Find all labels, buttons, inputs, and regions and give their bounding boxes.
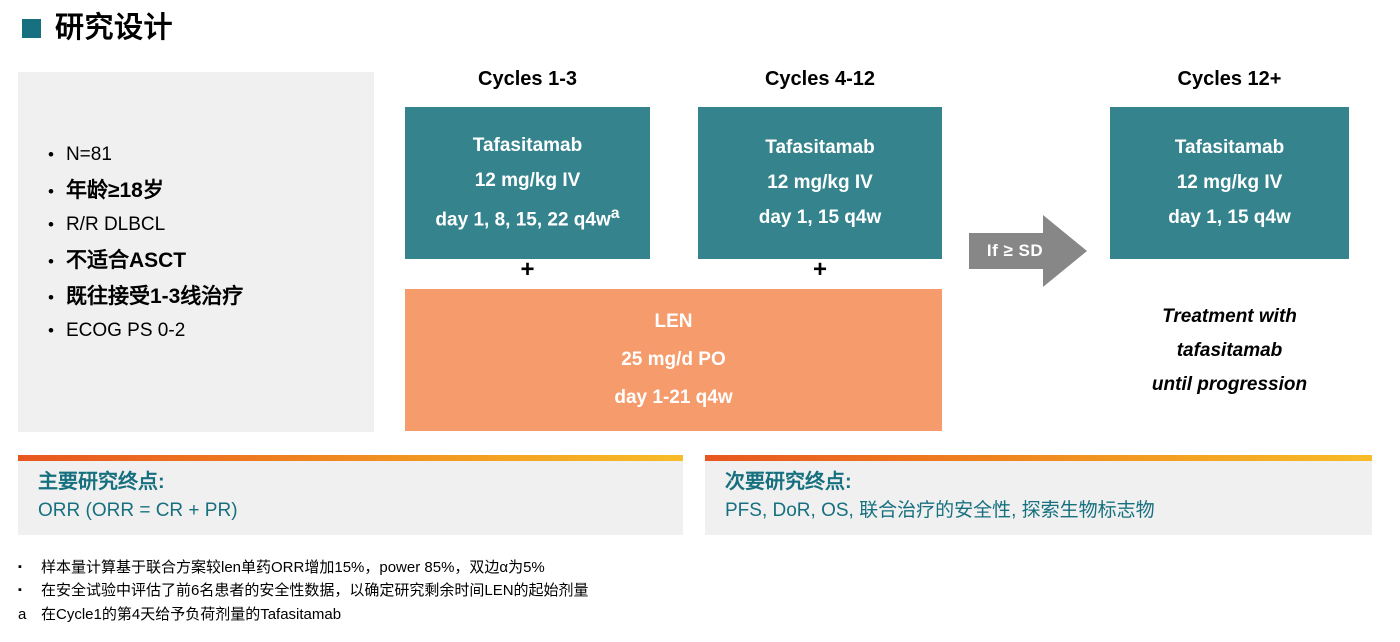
criteria-label: 不适合ASCT: [66, 248, 186, 273]
drug-schedule: day 1, 8, 15, 22 q4wa: [435, 205, 619, 231]
criteria-item-4: • 既往接受1-3线治疗: [48, 284, 374, 309]
bullet-dot-icon: •: [48, 289, 54, 306]
bullet-dot-icon: •: [48, 322, 54, 339]
secondary-endpoint-title: 次要研究终点:: [725, 469, 1372, 496]
bullet-dot-icon: •: [48, 253, 54, 270]
footnote-row-1: ▪ 在安全试验中评估了前6名患者的安全性数据，以确定研究剩余时间LEN的起始剂量: [18, 579, 1318, 602]
cycle-heading-3: Cycles 12+: [1110, 68, 1349, 91]
eligibility-criteria-panel: • N=81 • 年龄≥18岁 • R/R DLBCL • 不适合ASCT • …: [18, 72, 374, 432]
drug-name: Tafasitamab: [765, 137, 874, 159]
criteria-item-5: • ECOG PS 0-2: [48, 320, 374, 343]
criteria-item-0: • N=81: [48, 144, 374, 167]
criteria-label: 既往接受1-3线治疗: [66, 284, 243, 309]
criteria-item-2: • R/R DLBCL: [48, 214, 374, 237]
title-bullet-square: [22, 19, 41, 38]
criteria-label: N=81: [66, 144, 112, 167]
continuation-note: Treatment with tafasitamab until progres…: [1110, 300, 1349, 401]
drug-schedule: day 1, 15 q4w: [1168, 207, 1291, 229]
drug-dose: 12 mg/kg IV: [767, 172, 873, 194]
bullet-dot-icon: •: [48, 216, 54, 233]
criteria-item-3: • 不适合ASCT: [48, 248, 374, 273]
continuation-arrow: If ≥ SD: [969, 215, 1087, 287]
footnote-text: 样本量计算基于联合方案较len单药ORR增加15%，power 85%，双边α为…: [41, 556, 545, 579]
secondary-endpoint-body: PFS, DoR, OS, 联合治疗的安全性, 探索生物标志物: [725, 498, 1372, 524]
primary-endpoint-panel: 主要研究终点: ORR (ORR = CR + PR): [18, 455, 683, 535]
drug-dose: 12 mg/kg IV: [475, 170, 581, 192]
primary-endpoint-body: ORR (ORR = CR + PR): [38, 498, 683, 524]
drug-dose: 12 mg/kg IV: [1177, 172, 1283, 194]
page-title-text: 研究设计: [55, 14, 173, 43]
drug-name: Tafasitamab: [473, 135, 582, 157]
treatment-box-cycles-12-plus: Tafasitamab 12 mg/kg IV day 1, 15 q4w: [1110, 107, 1349, 259]
drug-name: Tafasitamab: [1175, 137, 1284, 159]
plus-separator-2: +: [698, 256, 942, 284]
bullet-dot-icon: •: [48, 183, 54, 200]
treatment-box-cycles-4-12: Tafasitamab 12 mg/kg IV day 1, 15 q4w: [698, 107, 942, 259]
criteria-label: R/R DLBCL: [66, 214, 165, 237]
footnote-marker-a: a: [18, 603, 31, 626]
footnote-square-icon: ▪: [18, 582, 31, 599]
treatment-box-cycles-1-3: Tafasitamab 12 mg/kg IV day 1, 8, 15, 22…: [405, 107, 650, 259]
footnote-text: 在安全试验中评估了前6名患者的安全性数据，以确定研究剩余时间LEN的起始剂量: [41, 579, 589, 602]
page-title: 研究设计: [22, 14, 173, 43]
footnotes: ▪ 样本量计算基于联合方案较len单药ORR增加15%，power 85%，双边…: [18, 556, 1318, 626]
cycle-heading-2: Cycles 4-12: [698, 68, 942, 91]
primary-endpoint-title: 主要研究终点:: [38, 469, 683, 496]
footnote-square-icon: ▪: [18, 559, 31, 576]
schedule-text: day 1, 8, 15, 22 q4w: [435, 209, 610, 230]
secondary-endpoint-panel: 次要研究终点: PFS, DoR, OS, 联合治疗的安全性, 探索生物标志物: [705, 455, 1372, 535]
footnote-row-2: a 在Cycle1的第4天给予负荷剂量的Tafasitamab: [18, 603, 1318, 626]
criteria-item-1: • 年龄≥18岁: [48, 178, 374, 203]
drug-schedule: day 1-21 q4w: [614, 387, 732, 409]
plus-separator-1: +: [405, 256, 650, 284]
criteria-label: 年龄≥18岁: [66, 178, 164, 203]
cycle-heading-1: Cycles 1-3: [405, 68, 650, 91]
treatment-box-len: LEN 25 mg/d PO day 1-21 q4w: [405, 289, 942, 431]
continuation-line-2: tafasitamab: [1110, 334, 1349, 368]
bullet-dot-icon: •: [48, 146, 54, 163]
footnote-text: 在Cycle1的第4天给予负荷剂量的Tafasitamab: [41, 603, 341, 626]
drug-schedule: day 1, 15 q4w: [759, 207, 882, 229]
criteria-label: ECOG PS 0-2: [66, 320, 185, 343]
continuation-line-1: Treatment with: [1110, 300, 1349, 334]
footnote-row-0: ▪ 样本量计算基于联合方案较len单药ORR增加15%，power 85%，双边…: [18, 556, 1318, 579]
drug-dose: 25 mg/d PO: [621, 349, 726, 371]
continuation-line-3: until progression: [1110, 368, 1349, 402]
drug-name: LEN: [655, 311, 693, 333]
footnote-ref-a: a: [611, 205, 620, 222]
arrow-label: If ≥ SD: [969, 215, 1061, 287]
